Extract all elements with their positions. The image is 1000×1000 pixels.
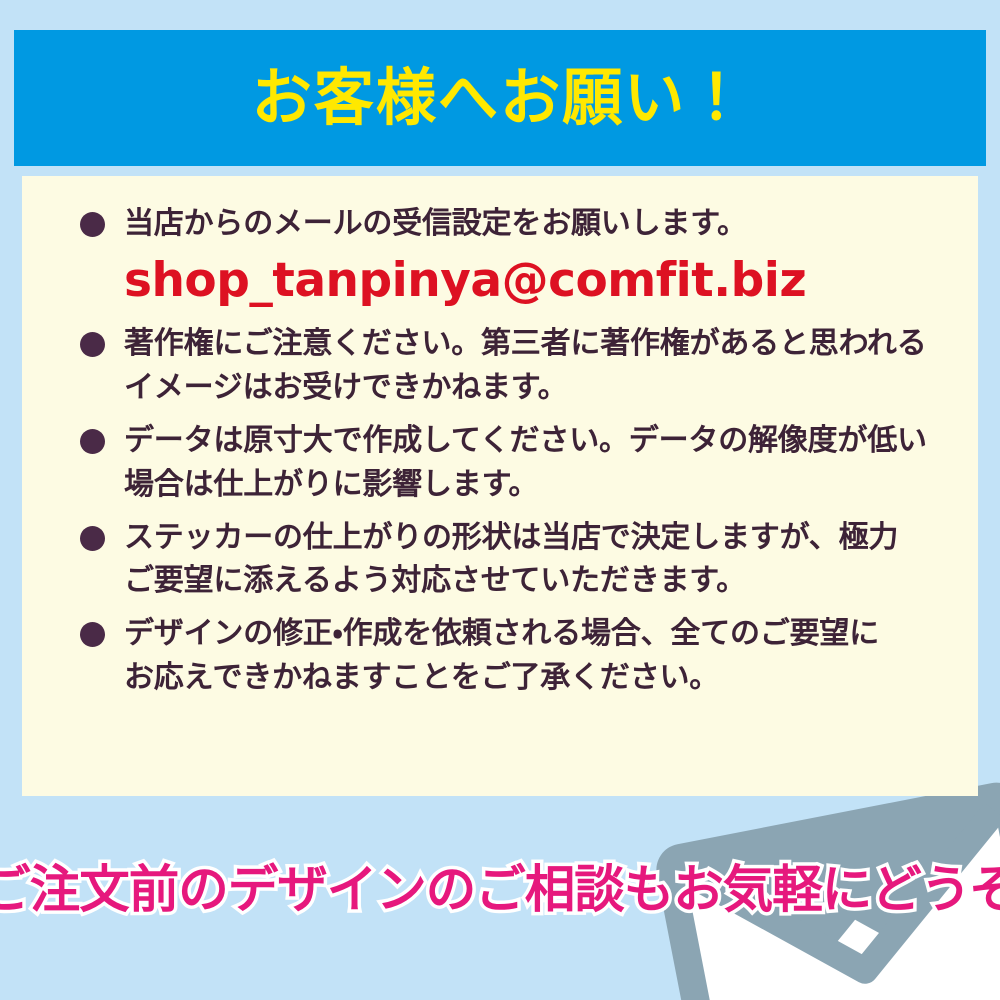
bullet-dot-icon [80,429,105,454]
notice-list: 当店からのメールの受信設定をお願いします。 shop_tanpinya@comf… [22,176,978,700]
notice-panel: 当店からのメールの受信設定をお願いします。 shop_tanpinya@comf… [22,176,978,796]
notice-line: 場合は仕上がりに影響します。 [124,463,956,507]
notice-line: お応えできかねますことをご了承ください。 [124,656,956,700]
notice-line: 当店からのメールの受信設定をお願いします。 [124,202,956,246]
footer-message: ご注文前のデザインのご相談もお気軽にどうぞ [0,865,1000,916]
page-title: お客様へお願い！ [252,67,749,129]
list-item: ステッカーの仕上がりの形状は当店で決定しますが、極力 ご要望に添えるよう対応させ… [80,516,956,604]
header-band: お客様へお願い！ [14,30,986,166]
list-item: データは原寸大で作成してください。データの解像度が低い 場合は仕上がりに影響しま… [80,419,956,507]
footer-band: ご注文前のデザインのご相談もお気軽にどうぞ [0,845,1000,935]
list-item: デザインの修正・作成を依頼される場合、全てのご要望に お応えできかねますことをご… [80,612,956,700]
bullet-dot-icon [80,526,105,551]
notice-line: データは原寸大で作成してください。データの解像度が低い [124,419,956,463]
bullet-dot-icon [80,212,105,237]
list-item: 著作権にご注意ください。第三者に著作権があると思われる イメージはお受けできかね… [80,322,956,410]
notice-poster: お客様へお願い！ 当店からのメールの受信設定をお願いします。 shop_tanp… [0,0,1000,1000]
bullet-dot-icon [80,332,105,357]
list-item: 当店からのメールの受信設定をお願いします。 [80,202,956,246]
notice-line: イメージはお受けできかねます。 [124,366,956,410]
notice-line: デザインの修正・作成を依頼される場合、全てのご要望に [124,612,956,656]
notice-line: 著作権にご注意ください。第三者に著作権があると思われる [124,322,956,366]
email-address[interactable]: shop_tanpinya@comfit.biz [80,255,956,307]
bullet-dot-icon [80,622,105,647]
notice-line: ステッカーの仕上がりの形状は当店で決定しますが、極力 [124,516,956,560]
notice-line: ご要望に添えるよう対応させていただきます。 [124,559,956,603]
